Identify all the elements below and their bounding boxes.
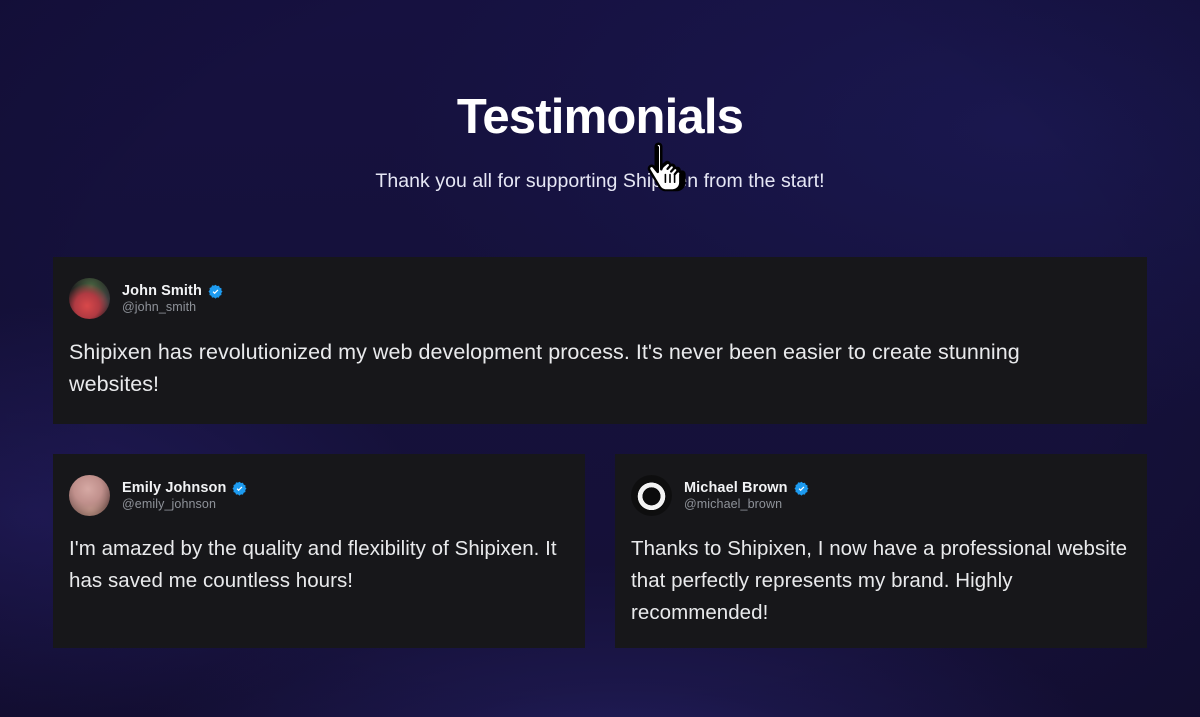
testimonial-quote: Shipixen has revolutionized my web devel… <box>69 336 1089 400</box>
avatar-emily-johnson <box>69 475 110 516</box>
testimonials-row: Emily Johnson @emily_johnson I'm amazed … <box>53 454 1147 648</box>
verified-badge-icon <box>208 284 223 299</box>
avatar-michael-brown <box>631 475 672 516</box>
testimonials-list: John Smith @john_smith Shipixen has revo… <box>53 257 1147 648</box>
verified-badge-icon <box>794 481 809 496</box>
testimonial-card[interactable]: Emily Johnson @emily_johnson I'm amazed … <box>53 454 585 648</box>
page-title: Testimonials <box>0 92 1200 143</box>
testimonial-author: Michael Brown @michael_brown <box>631 473 1131 518</box>
author-name: Emily Johnson <box>122 480 226 496</box>
testimonial-quote: Thanks to Shipixen, I now have a profess… <box>631 533 1131 629</box>
author-identity: Michael Brown @michael_brown <box>684 480 809 511</box>
author-identity: Emily Johnson @emily_johnson <box>122 480 247 511</box>
testimonial-author: Emily Johnson @emily_johnson <box>69 473 569 518</box>
author-handle: @michael_brown <box>684 497 809 511</box>
testimonial-quote: I'm amazed by the quality and flexibilit… <box>69 533 569 597</box>
testimonial-author: John Smith @john_smith <box>69 276 1131 321</box>
author-name-line: Michael Brown <box>684 480 809 496</box>
author-handle: @emily_johnson <box>122 497 247 511</box>
author-name: Michael Brown <box>684 480 788 496</box>
author-identity: John Smith @john_smith <box>122 283 223 314</box>
page-subtitle: Thank you all for supporting Shipixen fr… <box>0 170 1200 193</box>
verified-badge-icon <box>232 481 247 496</box>
testimonial-card[interactable]: John Smith @john_smith Shipixen has revo… <box>53 257 1147 424</box>
page-header: Testimonials Thank you all for supportin… <box>0 0 1200 193</box>
author-name-line: John Smith <box>122 283 223 299</box>
testimonials-page: Testimonials Thank you all for supportin… <box>0 0 1200 717</box>
testimonial-card[interactable]: Michael Brown @michael_brown Thanks to S… <box>615 454 1147 648</box>
author-name: John Smith <box>122 283 202 299</box>
author-handle: @john_smith <box>122 300 223 314</box>
avatar-john-smith <box>69 278 110 319</box>
author-name-line: Emily Johnson <box>122 480 247 496</box>
